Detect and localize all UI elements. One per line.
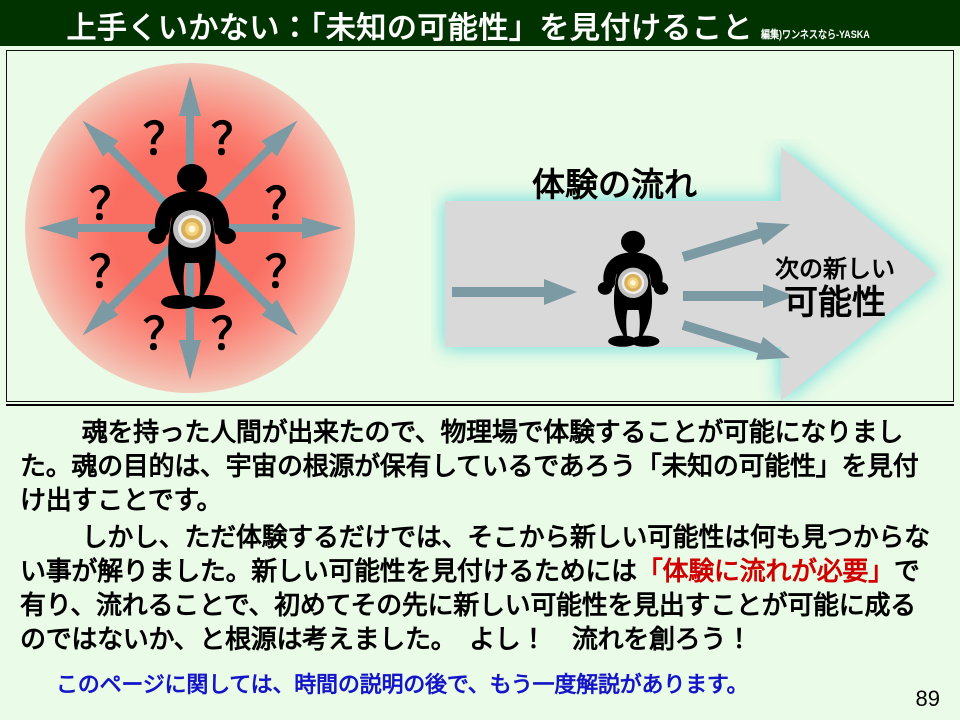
question-mark-icon: ？ [89, 251, 133, 295]
next-possibility-line2: 可能性 [775, 286, 895, 322]
illustration-panel: ？ ？ ？ ？ ？ ？ ？ ？ [6, 50, 954, 402]
header-credit: 編集)ワンネスなら-YASKA [761, 30, 870, 41]
question-mark-icon: ？ [265, 251, 309, 295]
question-mark-icon: ？ [211, 118, 255, 162]
body-text-panel: 魂を持った人間が出来たので、物理場で体験することが可能になりました。魂の目的は、… [6, 404, 954, 714]
page-title: 上手くいかない：「未知の可能性」を見付けること [66, 14, 753, 44]
question-mark-icon: ？ [265, 183, 309, 227]
next-possibility-label: 次の新しい 可能性 [775, 257, 895, 322]
paragraph-2: しかし、ただ体験するだけでは、そこから新しい可能性は何も見つからない事が解りまし… [20, 521, 940, 656]
slide-header-bar: 上手くいかない：「未知の可能性」を見付けること 編集)ワンネスなら-YASKA [0, 0, 960, 46]
flow-heading-label: 体験の流れ [532, 168, 697, 201]
paragraph-1: 魂を持った人間が出来たので、物理場で体験することが可能になりました。魂の目的は、… [20, 416, 940, 517]
human-silhouette-with-soul [589, 229, 677, 351]
page-number: 89 [916, 686, 940, 712]
next-possibility-line1: 次の新しい [775, 257, 895, 282]
note-line: このページに関しては、時間の説明の後で、もう一度解説があります。 [20, 671, 940, 700]
paragraph-1-text: 魂を持った人間が出来たので、物理場で体験することが可能になりました。魂の目的は、… [20, 417, 918, 515]
human-silhouette-with-soul [137, 163, 247, 313]
incoming-flow-arrow [452, 279, 577, 305]
question-mark-icon: ？ [143, 313, 187, 357]
question-mark-icon: ？ [211, 313, 255, 357]
question-mark-icon: ？ [89, 183, 133, 227]
paragraph-2-highlight: 「体験に流れが必要」 [637, 556, 894, 586]
radial-glow-background: ？ ？ ？ ？ ？ ？ ？ ？ [25, 63, 355, 393]
question-mark-icon: ？ [143, 118, 187, 162]
